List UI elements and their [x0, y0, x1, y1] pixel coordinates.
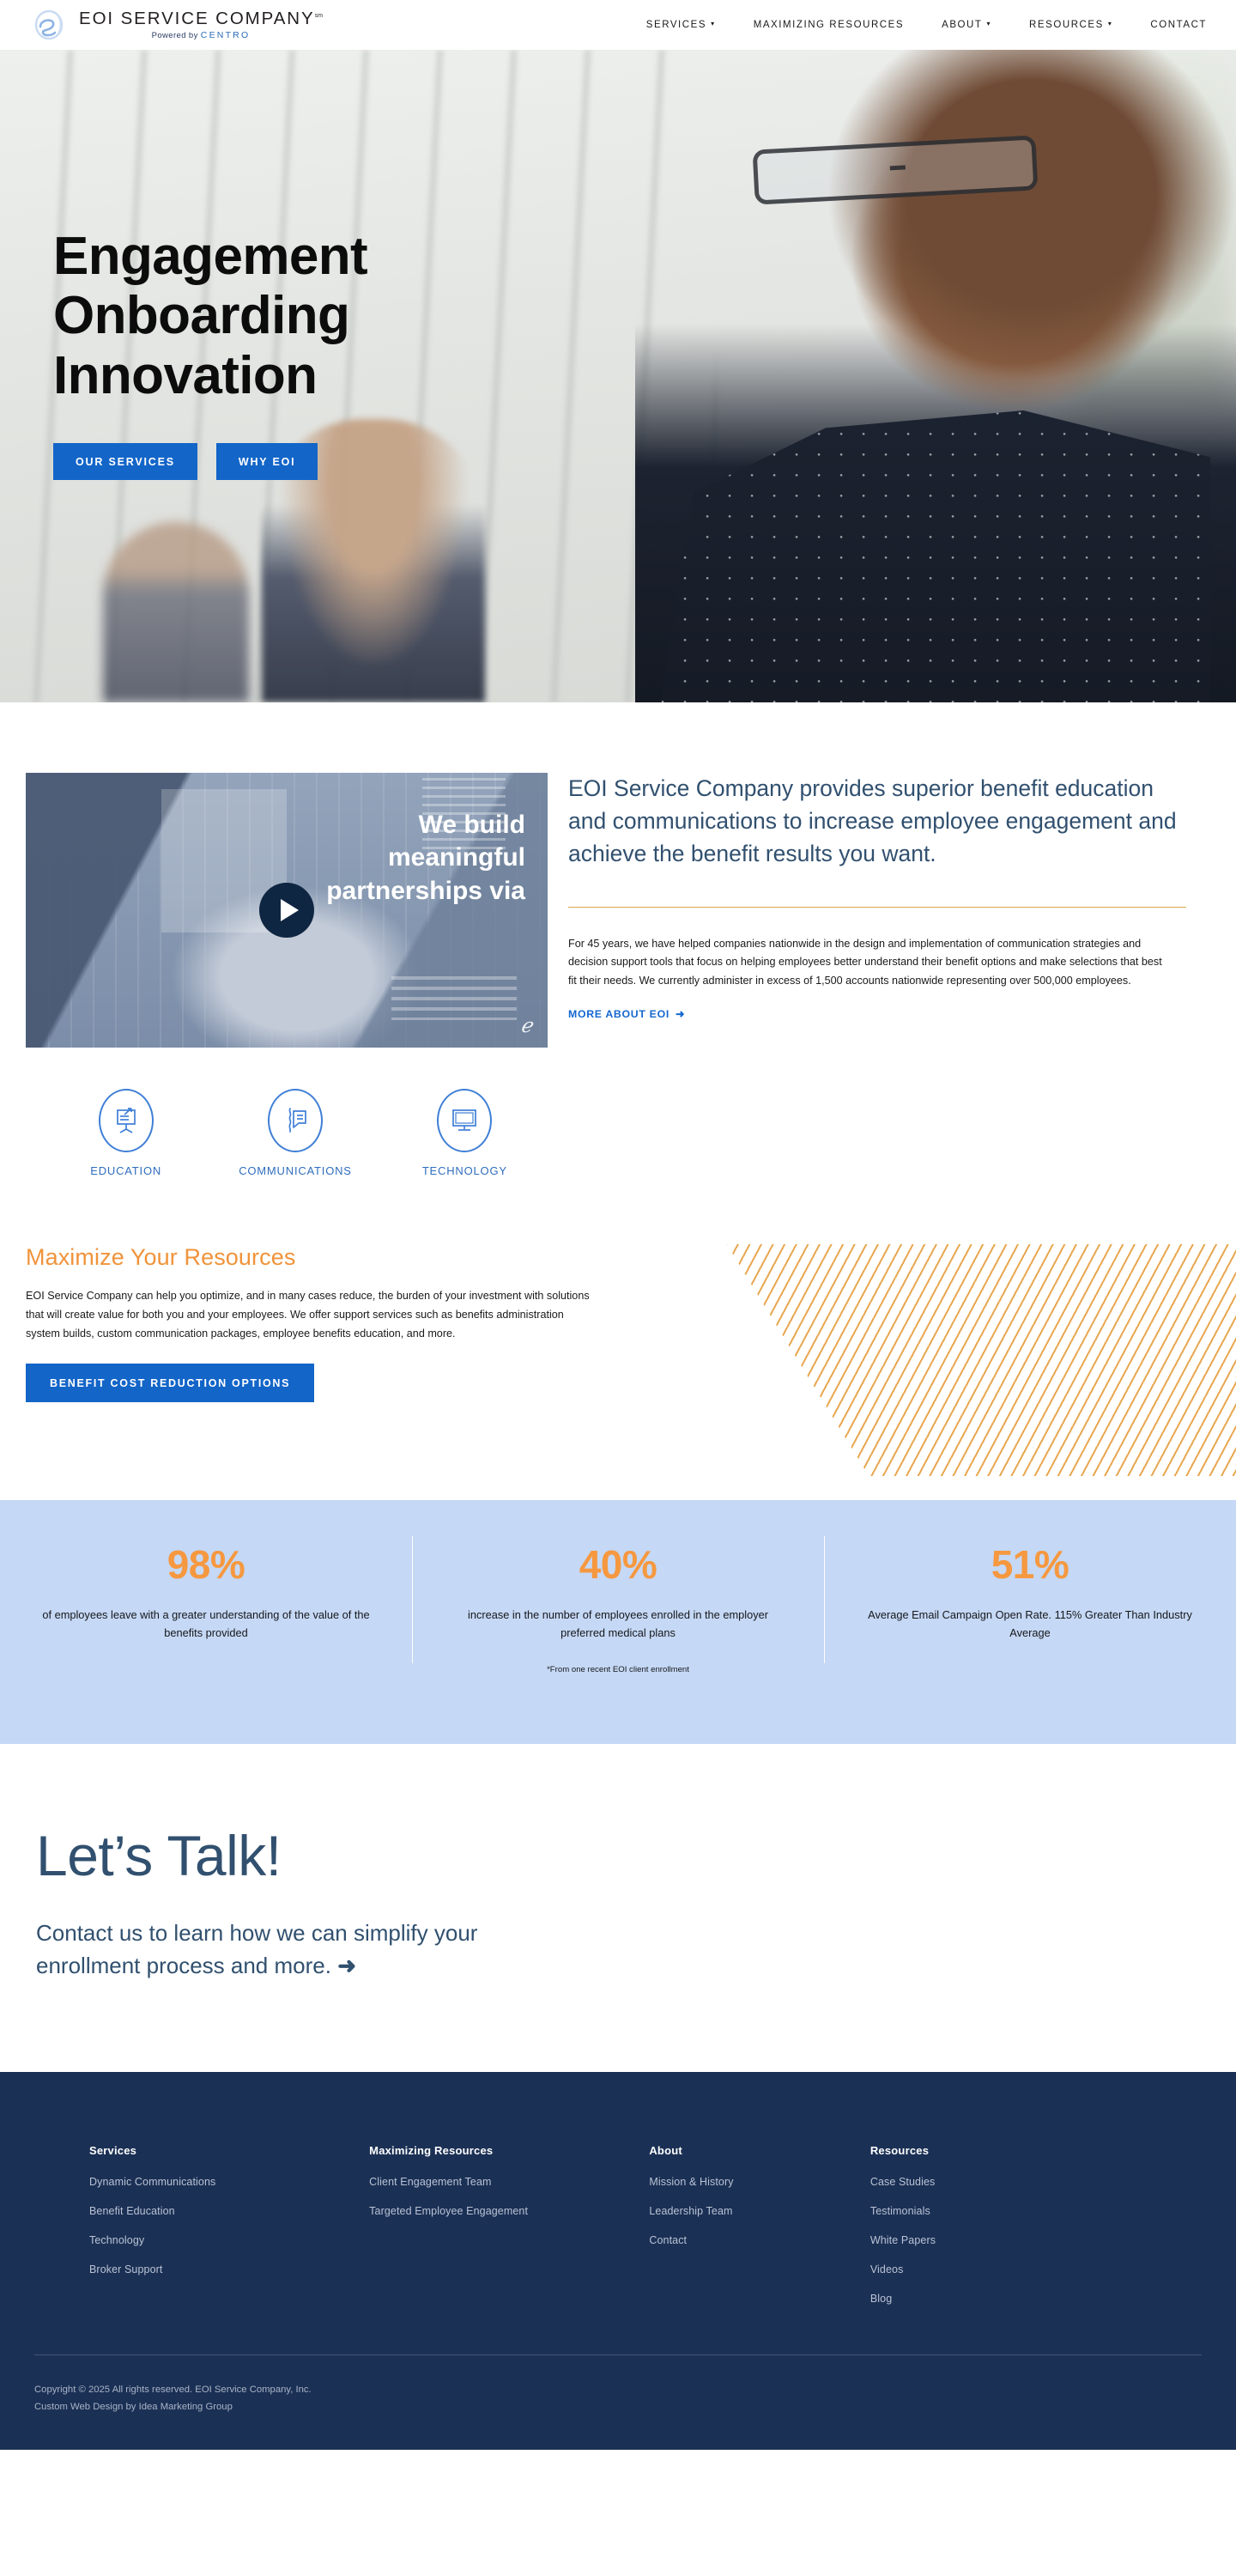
- hero-section: Engagement Onboarding Innovation OUR SER…: [0, 50, 1236, 702]
- stat-description: of employees leave with a greater unders…: [39, 1607, 373, 1642]
- hero-title-line-3: Innovation: [53, 346, 317, 405]
- nav-item-about[interactable]: ABOUT ▾: [942, 20, 991, 30]
- logo-tagline-brand: CENTRO: [201, 30, 251, 40]
- stat-number: 40%: [451, 1541, 785, 1588]
- footer-columns: Services Dynamic Communications Benefit …: [0, 2144, 1236, 2322]
- arrow-right-icon: ➜: [676, 1008, 685, 1020]
- gold-divider: [568, 907, 1186, 908]
- nav-label: SERVICES: [646, 20, 706, 30]
- hero-title-line-1: Engagement: [53, 227, 367, 286]
- diagonal-stripes-decoration: [644, 1244, 1236, 1476]
- nav-item-contact[interactable]: CONTACT: [1150, 20, 1207, 30]
- footer-link[interactable]: Videos: [870, 2263, 1150, 2275]
- logo-tagline: Powered by CENTRO: [79, 31, 323, 40]
- nav-label: CONTACT: [1150, 20, 1207, 30]
- footer-column-title: About: [649, 2144, 870, 2157]
- chevron-down-icon: ▾: [711, 21, 716, 27]
- lets-talk-title: Let’s Talk!: [36, 1823, 1236, 1888]
- footer-column-title: Resources: [870, 2144, 1150, 2157]
- video-player-card[interactable]: We build meaningful partnerships via ℯ: [26, 773, 548, 1048]
- site-footer: Services Dynamic Communications Benefit …: [0, 2072, 1236, 2450]
- nav-item-services[interactable]: SERVICES ▾: [646, 20, 716, 30]
- service-icon-communications[interactable]: COMMUNICATIONS: [210, 1089, 379, 1177]
- nav-label: MAXIMIZING RESOURCES: [754, 20, 904, 30]
- stat-description: Average Email Campaign Open Rate. 115% G…: [863, 1607, 1197, 1642]
- service-icon-label: EDUCATION: [41, 1164, 210, 1177]
- footer-column-about: About Mission & History Leadership Team …: [649, 2144, 870, 2322]
- document-lines-detail-2: [391, 976, 517, 1020]
- stat-card: 40% increase in the number of employees …: [412, 1541, 824, 1677]
- intro-section: We build meaningful partnerships via ℯ: [0, 702, 1236, 1177]
- our-services-button[interactable]: OUR SERVICES: [53, 443, 197, 480]
- service-icon-label: COMMUNICATIONS: [210, 1164, 379, 1177]
- why-eoi-button[interactable]: WHY EOI: [216, 443, 318, 480]
- hero-title-line-2: Onboarding: [53, 286, 349, 345]
- service-icon-row: EDUCATION COMMUNICATIONS: [26, 1089, 549, 1177]
- nav-item-resources[interactable]: RESOURCES ▾: [1029, 20, 1112, 30]
- footer-link[interactable]: Case Studies: [870, 2176, 1150, 2188]
- footer-link[interactable]: White Papers: [870, 2234, 1150, 2246]
- copyright-text: Copyright © 2025 All rights reserved. EO…: [34, 2381, 1202, 2398]
- footer-link[interactable]: Testimonials: [870, 2205, 1150, 2217]
- play-icon[interactable]: [259, 883, 314, 938]
- intro-lead-paragraph: EOI Service Company provides superior be…: [568, 773, 1186, 871]
- footer-column-services: Services Dynamic Communications Benefit …: [89, 2144, 369, 2322]
- logo[interactable]: EOI SERVICE COMPANYsm Powered by CENTRO: [33, 8, 323, 42]
- more-about-eoi-label: MORE ABOUT EOI: [568, 1008, 669, 1020]
- web-design-credit[interactable]: Custom Web Design by Idea Marketing Grou…: [34, 2398, 1202, 2415]
- statistics-section: 98% of employees leave with a greater un…: [0, 1500, 1236, 1744]
- stat-number: 98%: [39, 1541, 373, 1588]
- benefit-cost-reduction-button[interactable]: BENEFIT COST REDUCTION OPTIONS: [26, 1364, 314, 1402]
- video-caption-line-1: We build: [419, 811, 525, 839]
- footer-link[interactable]: Leadership Team: [649, 2205, 870, 2217]
- intro-body-paragraph: For 45 years, we have helped companies n…: [568, 935, 1169, 991]
- lets-talk-subtitle[interactable]: Contact us to learn how we can simplify …: [36, 1917, 491, 1983]
- arrow-right-icon: ➜: [337, 1953, 356, 1978]
- lets-talk-section: Let’s Talk! Contact us to learn how we c…: [0, 1744, 1236, 2072]
- footer-link[interactable]: Mission & History: [649, 2176, 870, 2188]
- footer-link[interactable]: Client Engagement Team: [369, 2176, 649, 2188]
- logo-title: EOI SERVICE COMPANYsm: [79, 10, 323, 28]
- footer-column-title: Maximizing Resources: [369, 2144, 649, 2157]
- stat-description: increase in the number of employees enro…: [451, 1607, 785, 1642]
- video-caption-line-2: meaningful: [388, 843, 525, 872]
- nav-label: RESOURCES: [1029, 20, 1104, 30]
- stat-footnote: *From one recent EOI client enrollment: [451, 1664, 785, 1676]
- footer-link[interactable]: Broker Support: [89, 2263, 369, 2275]
- footer-legal: Copyright © 2025 All rights reserved. EO…: [0, 2355, 1236, 2450]
- logo-trademark: sm: [315, 13, 323, 19]
- footer-link[interactable]: Targeted Employee Engagement: [369, 2205, 649, 2217]
- easel-chart-icon: [99, 1089, 154, 1152]
- footer-column-title: Services: [89, 2144, 369, 2157]
- service-icon-technology[interactable]: TECHNOLOGY: [380, 1089, 549, 1177]
- service-icon-education[interactable]: EDUCATION: [41, 1089, 210, 1177]
- speech-bubble-person-icon: [268, 1089, 323, 1152]
- logo-tagline-prefix: Powered by: [152, 31, 198, 40]
- footer-link[interactable]: Benefit Education: [89, 2205, 369, 2217]
- footer-link[interactable]: Blog: [870, 2293, 1150, 2305]
- more-about-eoi-link[interactable]: MORE ABOUT EOI ➜: [568, 1008, 685, 1020]
- video-caption-line-3: partnerships via: [326, 877, 525, 905]
- chevron-down-icon: ▾: [986, 21, 991, 27]
- maximize-resources-section: Maximize Your Resources EOI Service Comp…: [0, 1244, 1236, 1476]
- footer-link[interactable]: Contact: [649, 2234, 870, 2246]
- site-header: EOI SERVICE COMPANYsm Powered by CENTRO …: [0, 0, 1236, 50]
- stat-number: 51%: [863, 1541, 1197, 1588]
- footer-column-maximizing-resources: Maximizing Resources Client Engagement T…: [369, 2144, 649, 2322]
- footer-link[interactable]: Dynamic Communications: [89, 2176, 369, 2188]
- maximize-title: Maximize Your Resources: [26, 1244, 627, 1271]
- stat-card: 51% Average Email Campaign Open Rate. 11…: [824, 1541, 1236, 1677]
- service-icon-label: TECHNOLOGY: [380, 1164, 549, 1177]
- hero-button-group: OUR SERVICES WHY EOI: [53, 443, 1236, 480]
- main-navigation: SERVICES ▾ MAXIMIZING RESOURCES ABOUT ▾ …: [646, 20, 1207, 30]
- nav-label: ABOUT: [942, 20, 982, 30]
- maximize-body: EOI Service Company can help you optimiz…: [26, 1286, 592, 1343]
- footer-column-resources: Resources Case Studies Testimonials Whit…: [870, 2144, 1150, 2322]
- stat-card: 98% of employees leave with a greater un…: [0, 1541, 412, 1677]
- e-monogram-icon: [33, 8, 67, 42]
- intro-left-column: We build meaningful partnerships via ℯ: [0, 773, 549, 1177]
- chevron-down-icon: ▾: [1108, 21, 1113, 27]
- hero-title: Engagement Onboarding Innovation: [53, 227, 1236, 405]
- nav-item-maximizing-resources[interactable]: MAXIMIZING RESOURCES: [754, 20, 904, 30]
- intro-right-column: EOI Service Company provides superior be…: [549, 773, 1236, 1022]
- lets-talk-subtitle-text: Contact us to learn how we can simplify …: [36, 1920, 477, 1978]
- footer-link[interactable]: Technology: [89, 2234, 369, 2246]
- monitor-icon: [437, 1089, 492, 1152]
- eoi-watermark-icon: ℯ: [520, 1015, 532, 1037]
